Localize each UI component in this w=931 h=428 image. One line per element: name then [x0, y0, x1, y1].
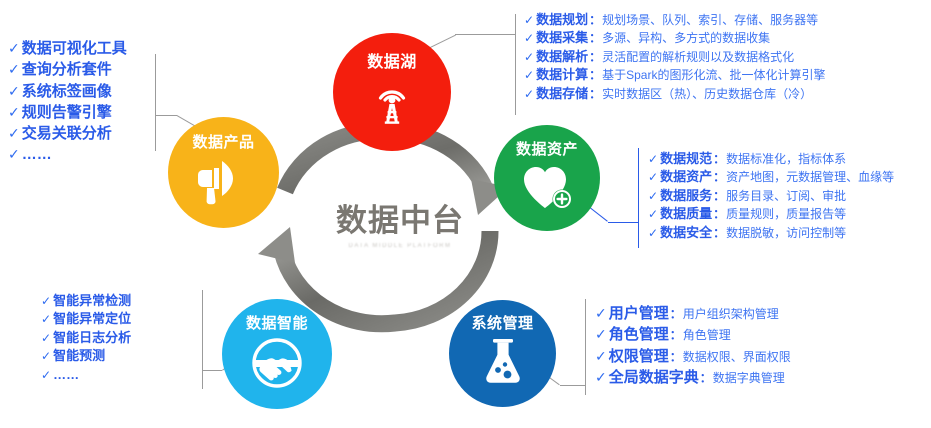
list-item-desc: 数据标准化，指标体系	[726, 151, 846, 168]
list-item: ✓ 数据规范 ： 数据标准化，指标体系	[648, 150, 894, 168]
list-item-colon: ：	[589, 30, 601, 47]
list-item-term: 数据服务	[660, 187, 712, 205]
node-data-product-label: 数据产品	[192, 135, 254, 151]
list-item-term: 数据质量	[660, 205, 712, 223]
megaphone-icon	[195, 155, 253, 210]
list-item-term: 数据计算	[536, 66, 588, 84]
list-item: ✓ 数据采集 ： 多源、异构、多方式的数据收集	[524, 29, 825, 47]
check-icon: ✓	[524, 12, 534, 29]
leader-line-data-asset-a	[608, 222, 639, 223]
list-item-term: 智能预测	[53, 347, 105, 365]
list-item-colon: ：	[589, 67, 601, 84]
list-item-term: 数据解析	[536, 48, 588, 66]
list-item-colon: ：	[713, 151, 725, 168]
list-item: ✓ 系统标签画像	[8, 81, 127, 102]
check-icon: ✓	[41, 311, 51, 328]
node-data-product[interactable]: 数据产品	[168, 117, 279, 228]
list-item-desc: 多源、异构、多方式的数据收集	[602, 30, 770, 47]
list-item: ✓ 权限管理 ： 数据权限、界面权限	[595, 346, 791, 367]
list-item-colon: ：	[713, 206, 725, 223]
list-item-term: 智能日志分析	[53, 329, 131, 347]
list-item-term: 数据安全	[660, 224, 712, 242]
node-system-management[interactable]: 系统管理	[449, 300, 556, 407]
list-item: ✓ 智能预测	[41, 347, 131, 365]
node-data-lake[interactable]: 数据湖	[333, 33, 451, 151]
list-item-term: 用户管理	[609, 303, 669, 324]
list-item-desc: 灵活配置的解析规则以及数据格式化	[602, 49, 794, 66]
check-icon: ✓	[41, 348, 51, 365]
list-item: ✓ 智能异常检测	[41, 292, 131, 310]
check-icon: ✓	[41, 293, 51, 310]
list-item: ✓ 数据质量 ： 质量规则，质量报告等	[648, 205, 894, 223]
list-item-desc: 资产地图，元数据管理、血缘等	[726, 169, 894, 186]
node-data-intelligence[interactable]: 数据智能	[222, 299, 332, 409]
check-icon: ✓	[524, 67, 534, 84]
node-data-asset[interactable]: 数据资产	[494, 125, 600, 231]
list-item-term: 权限管理	[609, 346, 669, 367]
check-icon: ✓	[595, 347, 607, 367]
leader-line-data-intel-a	[202, 370, 222, 371]
list-item-colon: ：	[670, 327, 682, 344]
leader-bracket-data-product	[155, 54, 156, 151]
list-item-term: 数据存储	[536, 85, 588, 103]
list-item-term: 智能异常定位	[53, 310, 131, 328]
annotation-data-product: ✓ 数据可视化工具 ✓ 查询分析套件 ✓ 系统标签画像 ✓ 规则告警引擎 ✓ 交…	[8, 38, 127, 166]
flask-icon	[479, 336, 527, 391]
list-item: ✓ 数据计算 ： 基于Spark的图形化流、批一体化计算引擎	[524, 66, 825, 84]
list-item: ✓ 智能异常定位	[41, 310, 131, 328]
list-item-term: ……	[53, 366, 79, 384]
broadcast-tower-icon	[366, 76, 418, 133]
check-icon: ✓	[648, 169, 658, 186]
check-icon: ✓	[8, 39, 20, 59]
check-icon: ✓	[8, 124, 20, 144]
list-item-term: 系统标签画像	[22, 81, 112, 102]
node-data-lake-label: 数据湖	[367, 55, 417, 72]
check-icon: ✓	[648, 151, 658, 168]
annotation-system-management: ✓ 用户管理 ： 用户组织架构管理 ✓ 角色管理 ： 角色管理 ✓ 权限管理 ：…	[595, 303, 791, 388]
page-title: 数据中台	[290, 205, 510, 236]
list-item: ✓ 规则告警引擎	[8, 102, 127, 123]
list-item: ✓ 智能日志分析	[41, 329, 131, 347]
check-icon: ✓	[41, 367, 51, 384]
list-item-term: 数据规划	[536, 11, 588, 29]
check-icon: ✓	[595, 304, 607, 324]
check-icon: ✓	[8, 145, 20, 165]
list-item-term: 查询分析套件	[22, 59, 112, 80]
handshake-icon	[249, 336, 305, 395]
list-item-desc: 服务目录、订阅、审批	[726, 188, 846, 205]
node-system-management-label: 系统管理	[471, 316, 533, 332]
list-item-term: ……	[22, 144, 52, 165]
check-icon: ✓	[8, 60, 20, 80]
list-item: ✓ 数据规划 ： 规划场景、队列、索引、存储、服务器等	[524, 11, 825, 29]
check-icon: ✓	[648, 225, 658, 242]
list-item-colon: ：	[670, 349, 682, 366]
list-item-desc: 实时数据区（热）、历史数据仓库（冷）	[602, 86, 812, 103]
list-item-desc: 基于Spark的图形化流、批一体化计算引擎	[602, 67, 825, 84]
list-item-desc: 用户组织架构管理	[683, 306, 779, 323]
heart-plus-icon	[519, 162, 575, 217]
list-item-colon: ：	[670, 306, 682, 323]
leader-line-data-lake-a	[455, 34, 515, 35]
annotation-data-lake: ✓ 数据规划 ： 规划场景、队列、索引、存储、服务器等 ✓ 数据采集 ： 多源、…	[524, 11, 825, 103]
list-item: ✓ 数据服务 ： 服务目录、订阅、审批	[648, 187, 894, 205]
list-item-desc: 数据字典管理	[713, 370, 785, 387]
check-icon: ✓	[595, 368, 607, 388]
list-item-desc: 规划场景、队列、索引、存储、服务器等	[602, 12, 818, 29]
list-item-desc: 角色管理	[683, 327, 731, 344]
leader-bracket-sys-mgmt	[585, 299, 586, 395]
list-item: ✓ 角色管理 ： 角色管理	[595, 324, 791, 345]
list-item-desc: 数据脱敏，访问控制等	[726, 225, 846, 242]
list-item: ✓ 交易关联分析	[8, 123, 127, 144]
list-item: ✓ ……	[41, 366, 131, 384]
list-item-colon: ：	[589, 49, 601, 66]
list-item-colon: ：	[713, 169, 725, 186]
check-icon: ✓	[524, 30, 534, 47]
list-item: ✓ 数据资产 ： 资产地图，元数据管理、血缘等	[648, 168, 894, 186]
check-icon: ✓	[524, 86, 534, 103]
node-data-intelligence-label: 数据智能	[246, 316, 308, 332]
list-item-colon: ：	[589, 86, 601, 103]
list-item: ✓ 数据可视化工具	[8, 38, 127, 59]
list-item: ✓ 数据解析 ： 灵活配置的解析规则以及数据格式化	[524, 48, 825, 66]
list-item-term: 全局数据字典	[609, 367, 699, 388]
center-title-group: 数据中台 DATA MIDDLE PLATFORM	[290, 205, 510, 249]
leader-bracket-data-intel	[202, 290, 203, 389]
list-item: ✓ 查询分析套件	[8, 59, 127, 80]
list-item-colon: ：	[589, 12, 601, 29]
list-item-term: 角色管理	[609, 324, 669, 345]
check-icon: ✓	[8, 103, 20, 123]
list-item: ✓ ……	[8, 144, 127, 165]
leader-bracket-data-asset	[638, 148, 639, 248]
check-icon: ✓	[41, 330, 51, 347]
center-subtitle: DATA MIDDLE PLATFORM	[290, 243, 510, 249]
list-item-colon: ：	[700, 370, 712, 387]
list-item: ✓ 数据安全 ： 数据脱敏，访问控制等	[648, 224, 894, 242]
check-icon: ✓	[8, 82, 20, 102]
list-item-desc: 数据权限、界面权限	[683, 349, 791, 366]
leader-line-data-product-a	[155, 115, 177, 116]
check-icon: ✓	[595, 325, 607, 345]
check-icon: ✓	[648, 206, 658, 223]
list-item-term: 交易关联分析	[22, 123, 112, 144]
list-item-term: 数据可视化工具	[22, 38, 127, 59]
diagram-canvas: 数据中台 DATA MIDDLE PLATFORM 数据湖	[0, 0, 931, 428]
list-item-term: 智能异常检测	[53, 292, 131, 310]
annotation-data-intelligence: ✓ 智能异常检测 ✓ 智能异常定位 ✓ 智能日志分析 ✓ 智能预测 ✓ ……	[41, 292, 131, 384]
node-data-asset-label: 数据资产	[516, 142, 578, 158]
list-item-term: 数据资产	[660, 168, 712, 186]
list-item-desc: 质量规则，质量报告等	[726, 206, 846, 223]
list-item: ✓ 全局数据字典 ： 数据字典管理	[595, 367, 791, 388]
leader-line-sys-mgmt-a	[560, 385, 586, 386]
check-icon: ✓	[524, 49, 534, 66]
list-item: ✓ 数据存储 ： 实时数据区（热）、历史数据仓库（冷）	[524, 85, 825, 103]
list-item: ✓ 用户管理 ： 用户组织架构管理	[595, 303, 791, 324]
check-icon: ✓	[648, 188, 658, 205]
list-item-colon: ：	[713, 225, 725, 242]
list-item-term: 规则告警引擎	[22, 102, 112, 123]
annotation-data-asset: ✓ 数据规范 ： 数据标准化，指标体系 ✓ 数据资产 ： 资产地图，元数据管理、…	[648, 150, 894, 242]
list-item-term: 数据采集	[536, 29, 588, 47]
leader-bracket-data-lake	[515, 14, 516, 115]
list-item-colon: ：	[713, 188, 725, 205]
list-item-term: 数据规范	[660, 150, 712, 168]
